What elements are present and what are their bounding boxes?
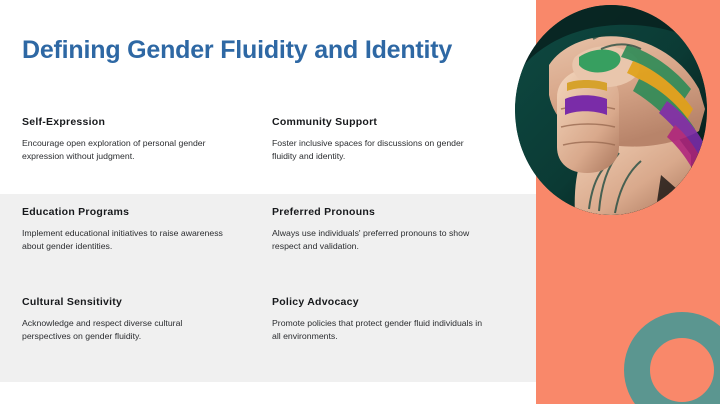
feature-title: Policy Advocacy [272, 296, 522, 308]
feature-cell-self-expression: Self-Expression Encourage open explorati… [0, 108, 250, 198]
feature-cell-cultural-sensitivity: Cultural Sensitivity Acknowledge and res… [0, 288, 250, 378]
slide-canvas: Defining Gender Fluidity and Identity Se… [0, 0, 720, 404]
feature-cell-education-programs: Education Programs Implement educational… [0, 198, 250, 288]
feature-body: Encourage open exploration of personal g… [22, 137, 227, 163]
feature-title: Community Support [272, 116, 522, 128]
feature-body: Promote policies that protect gender flu… [272, 317, 487, 343]
feature-body: Always use individuals' preferred pronou… [272, 227, 487, 253]
feature-body: Implement educational initiatives to rai… [22, 227, 227, 253]
feature-row-1: Self-Expression Encourage open explorati… [0, 108, 536, 198]
feature-cell-preferred-pronouns: Preferred Pronouns Always use individual… [250, 198, 536, 288]
feature-grid: Self-Expression Encourage open explorati… [0, 108, 536, 378]
feature-title: Education Programs [22, 206, 236, 218]
feature-title: Cultural Sensitivity [22, 296, 236, 308]
feature-body: Foster inclusive spaces for discussions … [272, 137, 487, 163]
feature-row-2: Education Programs Implement educational… [0, 198, 536, 288]
feature-cell-community-support: Community Support Foster inclusive space… [250, 108, 536, 198]
feature-title: Preferred Pronouns [272, 206, 522, 218]
feature-title: Self-Expression [22, 116, 236, 128]
page-title: Defining Gender Fluidity and Identity [22, 36, 452, 65]
feature-body: Acknowledge and respect diverse cultural… [22, 317, 227, 343]
feature-row-3: Cultural Sensitivity Acknowledge and res… [0, 288, 536, 378]
feature-cell-policy-advocacy: Policy Advocacy Promote policies that pr… [250, 288, 536, 378]
hands-pride-photo [515, 5, 707, 215]
